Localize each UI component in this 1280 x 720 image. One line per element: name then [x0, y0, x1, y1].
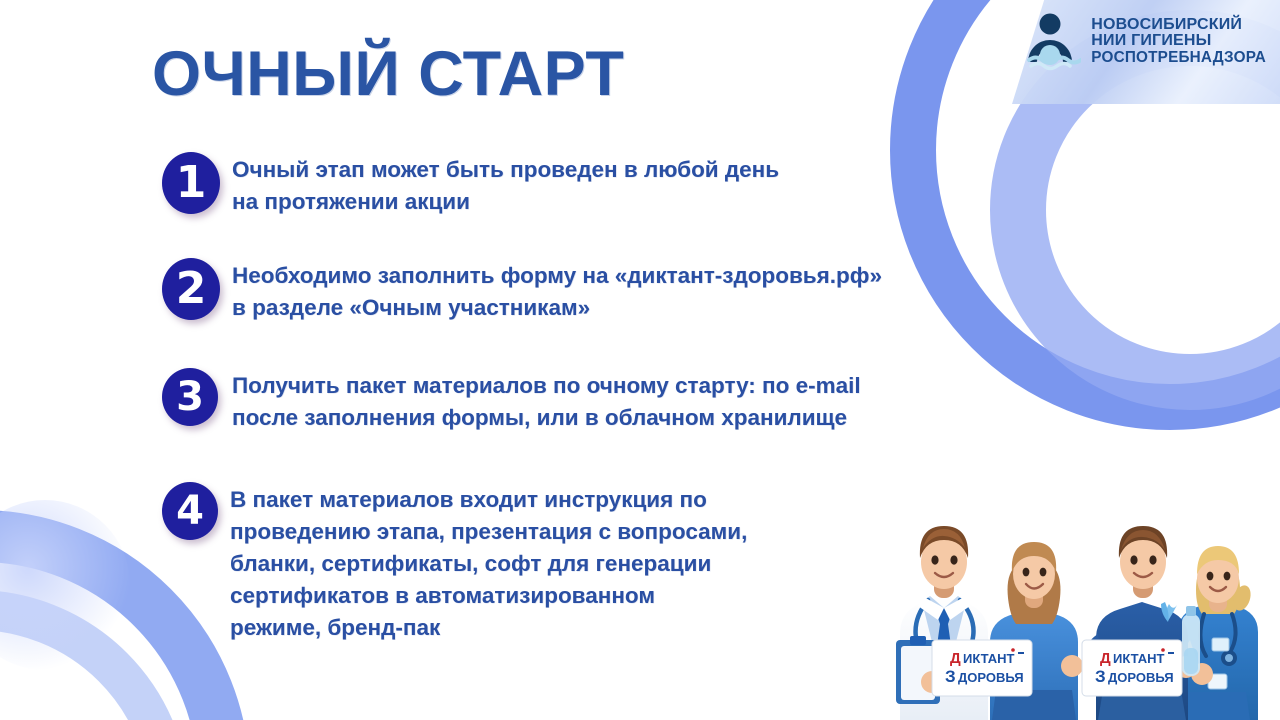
- list-item: 1 Очный этап может быть проведен в любой…: [162, 152, 779, 218]
- list-item: 3 Получить пакет материалов по очному ст…: [162, 368, 861, 434]
- step-number-badge: 2: [162, 258, 220, 320]
- list-item: 4 В пакет материалов входит инструкция п…: [162, 482, 747, 644]
- logo-line-1: НОВОСИБИРСКИЙ: [1091, 17, 1266, 33]
- step-text: Получить пакет материалов по очному стар…: [218, 368, 861, 434]
- svg-text:З: З: [945, 667, 956, 686]
- list-item: 2 Необходимо заполнить форму на «диктант…: [162, 258, 882, 324]
- logo-line-2: НИИ ГИГИЕНЫ: [1091, 33, 1266, 49]
- water-bottle: [1182, 606, 1200, 676]
- four-medical-characters-illustration: Д ИКТАНТ З ДОРОВЬЯ Д ИКТАНТ З ДОРОВЬЯ: [890, 462, 1280, 720]
- step-text: Необходимо заполнить форму на «диктант-з…: [220, 258, 882, 324]
- svg-text:ИКТАНТ: ИКТАНТ: [1113, 651, 1165, 666]
- svg-text:ДОРОВЬЯ: ДОРОВЬЯ: [1108, 670, 1174, 685]
- sign-diktant-zdorovya-left: Д ИКТАНТ З ДОРОВЬЯ: [932, 640, 1032, 696]
- sign-diktant-zdorovya-right: Д ИКТАНТ З ДОРОВЬЯ: [1082, 640, 1182, 696]
- step-text: В пакет материалов входит инструкция по …: [218, 482, 747, 644]
- institute-logo: НОВОСИБИРСКИЙ НИИ ГИГИЕНЫ РОСПОТРЕБНАДЗО…: [1019, 10, 1266, 72]
- svg-text:Д: Д: [1100, 650, 1111, 667]
- step-number-badge: 4: [162, 482, 218, 540]
- institute-logo-text: НОВОСИБИРСКИЙ НИИ ГИГИЕНЫ РОСПОТРЕБНАДЗО…: [1091, 17, 1266, 65]
- svg-text:Д: Д: [950, 650, 961, 667]
- person-in-water-icon: [1019, 10, 1081, 72]
- step-number-badge: 3: [162, 368, 218, 426]
- step-text: Очный этап может быть проведен в любой д…: [220, 152, 779, 218]
- svg-text:ДОРОВЬЯ: ДОРОВЬЯ: [958, 670, 1024, 685]
- page-title: ОЧНЫЙ СТАРТ: [152, 38, 624, 110]
- svg-text:ИКТАНТ: ИКТАНТ: [963, 651, 1015, 666]
- svg-text:З: З: [1095, 667, 1106, 686]
- logo-line-3: РОСПОТРЕБНАДЗОРА: [1091, 50, 1266, 66]
- step-number-badge: 1: [162, 152, 220, 214]
